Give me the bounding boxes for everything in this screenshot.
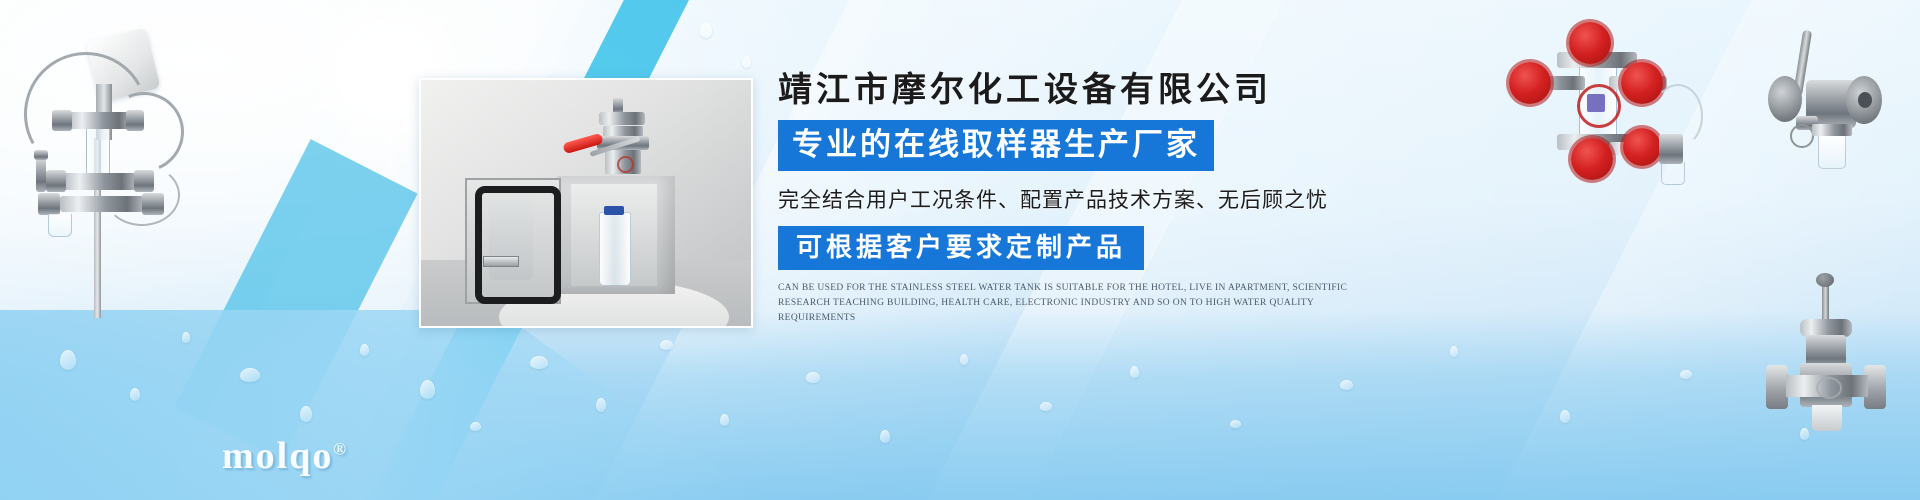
registered-mark-icon: ®	[333, 439, 348, 458]
droplet	[700, 22, 712, 38]
cta-badge[interactable]: 可根据客户要求定制产品	[778, 226, 1144, 270]
center-product-photo	[419, 78, 753, 328]
company-name: 靖江市摩尔化工设备有限公司	[778, 72, 1398, 109]
right-equipment-valve-cross	[1495, 22, 1735, 182]
english-caption: CAN BE USED FOR THE STAINLESS STEEL WATE…	[778, 281, 1378, 325]
valve-handwheel-icon	[1509, 62, 1551, 104]
watermark-text: molqo	[222, 435, 333, 477]
promo-banner: 靖江市摩尔化工设备有限公司 专业的在线取样器生产厂家 完全结合用户工况条件、配置…	[0, 0, 1920, 500]
left-equipment-photo	[8, 18, 188, 318]
droplet	[742, 56, 751, 68]
valve-handwheel-icon	[1571, 138, 1613, 180]
right-equipment-flanged-valve	[1760, 275, 1910, 445]
watermark-logo: molqo®	[222, 434, 348, 478]
valve-handwheel-icon	[1569, 22, 1611, 64]
banner-copy: 靖江市摩尔化工设备有限公司 专业的在线取样器生产厂家 完全结合用户工况条件、配置…	[778, 72, 1398, 326]
sub-headline: 完全结合用户工况条件、配置产品技术方案、无后顾之忧	[778, 184, 1398, 214]
headline-badge: 专业的在线取样器生产厂家	[778, 120, 1214, 171]
valve-handwheel-icon	[1623, 128, 1661, 166]
right-equipment-lever-valve	[1760, 20, 1910, 190]
